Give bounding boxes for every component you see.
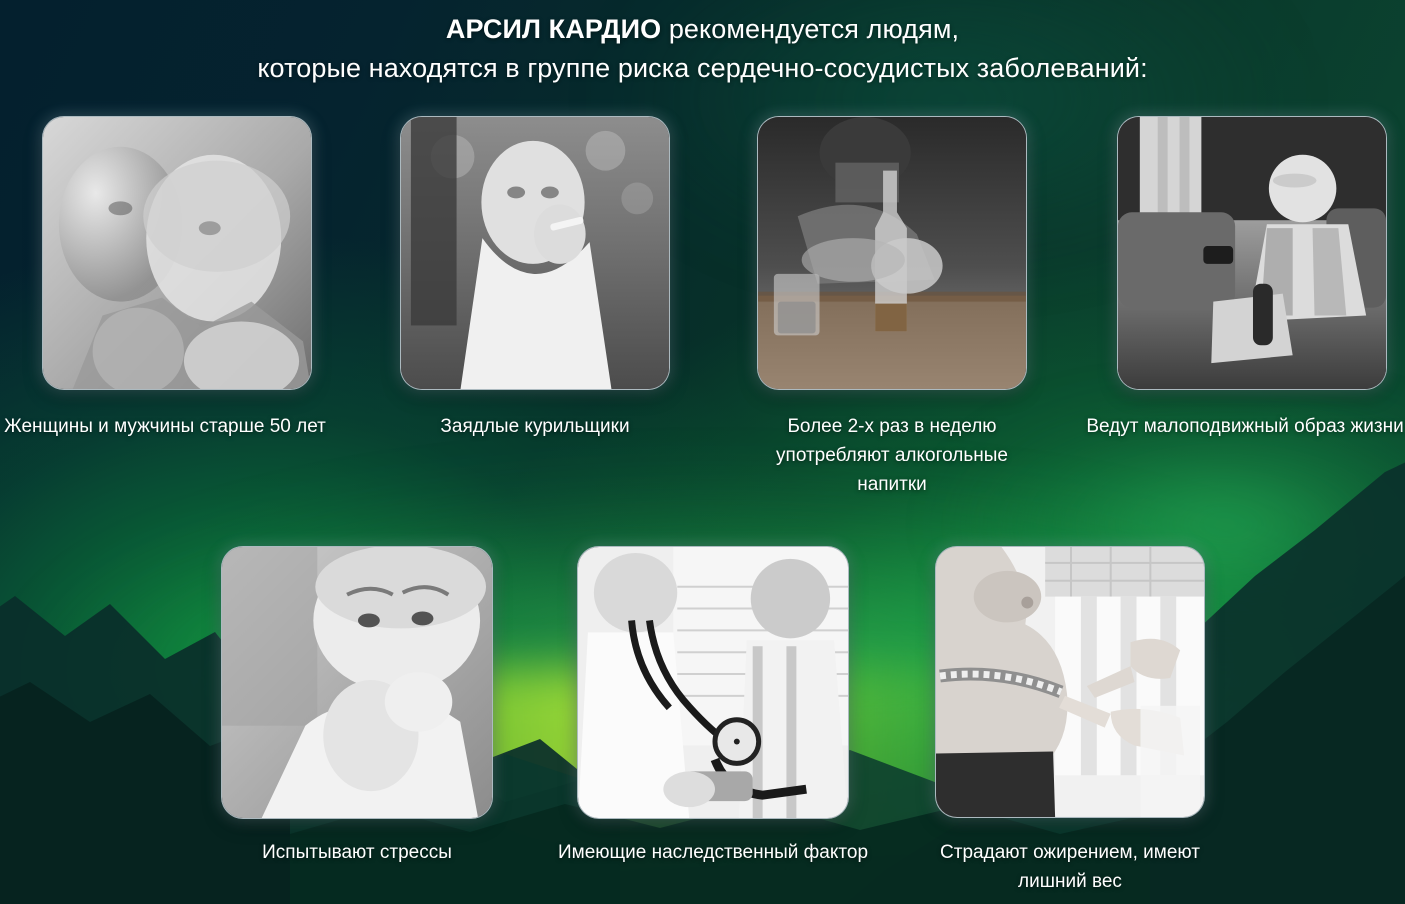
measuring-waist-of-obese-person-photo-icon (936, 547, 1204, 817)
content-layer: АРСИЛ КАРДИО рекомендуется людям, которы… (0, 0, 1405, 904)
risk-card-stress[interactable] (221, 546, 493, 819)
man-on-couch-with-remote-photo-icon (1118, 117, 1386, 389)
risk-caption-sedentary-lifestyle: Ведут малоподвижный образ жизни (1085, 412, 1405, 441)
page-title-rest: рекомендуется людям, (661, 14, 959, 44)
risk-card-sedentary-lifestyle[interactable] (1117, 116, 1387, 390)
risk-caption-obesity: Страдают ожирением, имеют лишний вес (915, 838, 1225, 896)
risk-card-heavy-smokers[interactable] (400, 116, 670, 390)
risk-caption-alcohol-consumers: Более 2-х раз в неделю употребляют алког… (751, 412, 1033, 499)
risk-caption-hereditary-factor: Имеющие наследственный фактор (551, 838, 875, 867)
risk-card-alcohol-consumers[interactable] (757, 116, 1027, 390)
page-title-line-two: которые находятся в группе риска сердечн… (0, 49, 1405, 88)
elderly-couple-photo-icon (43, 117, 311, 389)
man-with-bottle-and-glass-photo-icon (758, 117, 1026, 389)
elderly-man-smoking-photo-icon (401, 117, 669, 389)
risk-caption-elderly-couple: Женщины и мужчины старше 50 лет (0, 412, 342, 441)
risk-card-hereditary-factor[interactable] (577, 546, 849, 819)
risk-card-elderly-couple[interactable] (42, 116, 312, 390)
risk-card-obesity[interactable] (935, 546, 1205, 818)
doctor-measuring-blood-pressure-photo-icon (578, 547, 848, 818)
risk-caption-heavy-smokers: Заядлые курильщики (378, 412, 692, 441)
sad-elderly-woman-photo-icon (222, 547, 492, 818)
page-title: АРСИЛ КАРДИО рекомендуется людям, которы… (0, 10, 1405, 88)
page-title-brand: АРСИЛ КАРДИО (446, 14, 661, 44)
risk-caption-stress: Испытывают стрессы (205, 838, 509, 867)
